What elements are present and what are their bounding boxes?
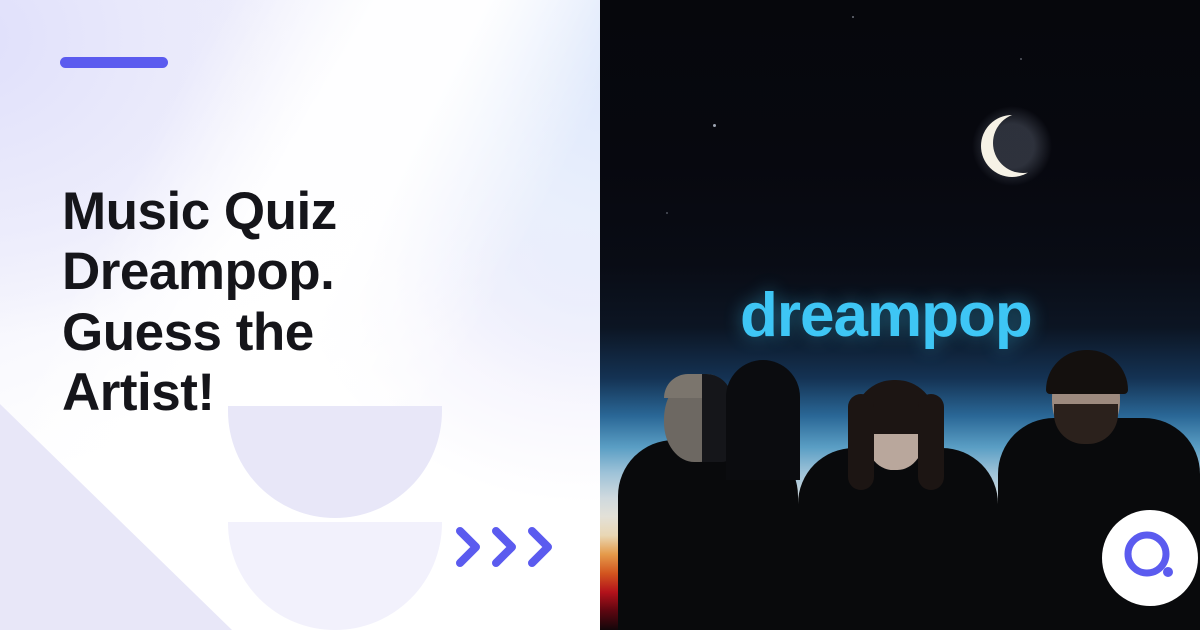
member-hair (1046, 350, 1128, 394)
brand-o-logo-icon (1118, 526, 1182, 590)
member-body (798, 448, 998, 630)
star-dot (713, 124, 716, 127)
chevron-right-icon (488, 524, 522, 570)
member-shoulder-shadow (726, 360, 800, 480)
album-artwork-panel: dreampop (600, 0, 1200, 630)
forward-chevrons[interactable] (452, 524, 558, 570)
crescent-moon-icon (970, 104, 1054, 188)
left-content-panel: Music Quiz Dreampop. Guess the Artist! (0, 0, 600, 630)
star-dot (1020, 58, 1022, 60)
accent-bar (60, 57, 168, 68)
page-title: Music Quiz Dreampop. Guess the Artist! (62, 182, 542, 424)
chevron-right-icon (452, 524, 486, 570)
member-hair-right (918, 394, 944, 490)
chevron-right-icon (524, 524, 558, 570)
band-member-left (618, 380, 798, 630)
star-dot (666, 212, 668, 214)
member-hair-left (848, 394, 874, 490)
band-member-center (798, 362, 998, 630)
star-dot (852, 16, 854, 18)
promo-card: Music Quiz Dreampop. Guess the Artist! (0, 0, 1200, 630)
brand-badge[interactable] (1102, 510, 1198, 606)
